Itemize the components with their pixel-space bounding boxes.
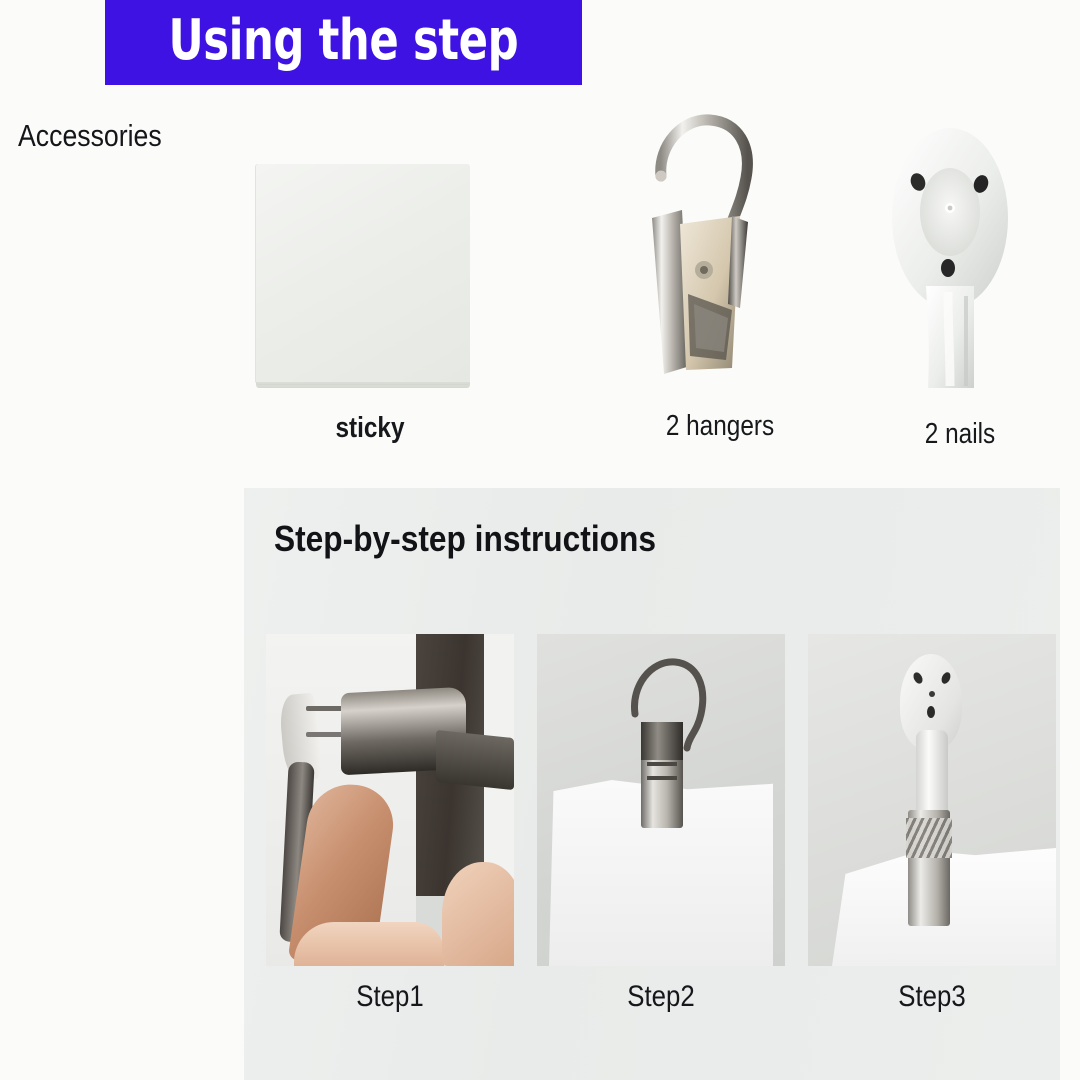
accessories-heading: Accessories (18, 118, 162, 154)
adhesive-pad-icon (256, 164, 470, 384)
clip-slot-upper (647, 762, 677, 766)
nail-lower (306, 732, 344, 737)
step-photos-row (266, 634, 1056, 966)
step-photo-2 (537, 634, 785, 966)
instructions-heading: Step-by-step instructions (274, 518, 656, 560)
step-photo-1 (266, 634, 514, 966)
hook-clip-icon (628, 98, 808, 390)
instructions-panel: Step-by-step instructions (244, 488, 1060, 1080)
step-photo-3 (808, 634, 1056, 966)
accessory-label-hangers: 2 hangers (636, 410, 804, 443)
step-label-2: Step2 (554, 980, 767, 1032)
step-label-1: Step1 (283, 980, 496, 1032)
accessory-label-nails: 2 nails (889, 418, 1032, 451)
page-title: Using the step (169, 13, 519, 73)
thumb (442, 862, 514, 966)
clip-slot-lower (647, 776, 677, 780)
palm (294, 922, 444, 966)
step-label-3: Step3 (825, 980, 1038, 1032)
clip-teeth (906, 818, 952, 858)
hammer-handle (436, 730, 514, 790)
title-banner: Using the step (105, 0, 582, 85)
nail-holes-group (904, 662, 960, 732)
step-labels-row: Step1 Step2 Step3 (266, 980, 1056, 1032)
clip-jaw (641, 722, 683, 760)
wall-hook-icon (878, 126, 1022, 388)
accessory-label-sticky: sticky (286, 412, 454, 445)
